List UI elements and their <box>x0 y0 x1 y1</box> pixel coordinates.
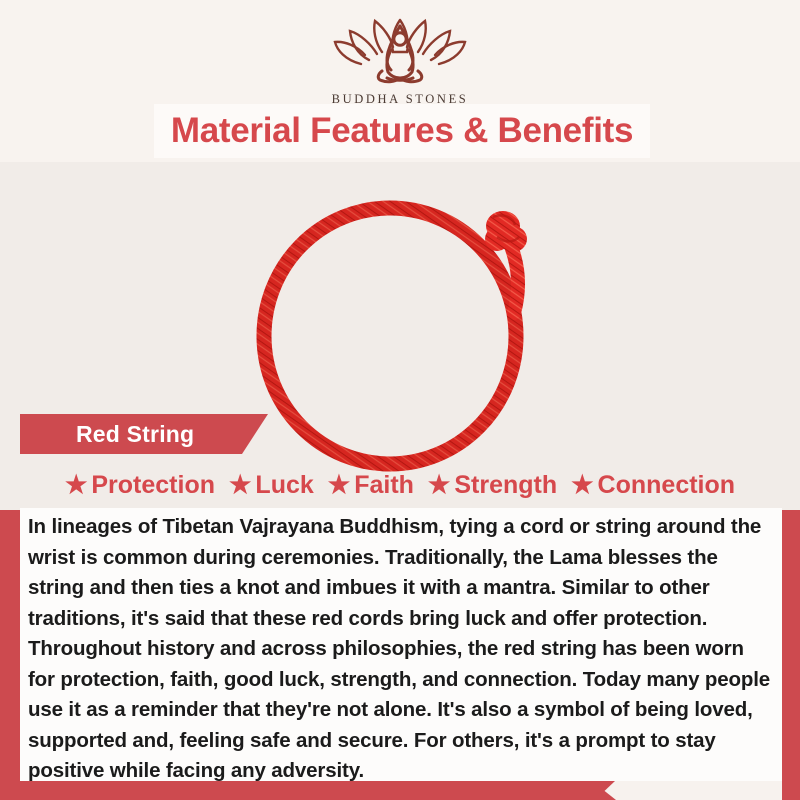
bracelet-image <box>0 162 800 510</box>
benefit-item: ★ Luck <box>222 471 321 500</box>
star-icon: ★ <box>65 473 87 498</box>
star-icon: ★ <box>428 473 450 498</box>
benefit-label: Strength <box>454 471 557 500</box>
star-icon: ★ <box>571 473 593 498</box>
brand-logo: BUDDHA STONES <box>0 14 800 107</box>
red-string-bracelet-icon <box>235 191 565 481</box>
title-plate: Material Features & Benefits <box>154 104 650 158</box>
benefit-label: Luck <box>255 471 313 500</box>
benefit-item: ★ Protection <box>58 471 222 500</box>
description-panel: In lineages of Tibetan Vajrayana Buddhis… <box>20 508 782 781</box>
description-text: In lineages of Tibetan Vajrayana Buddhis… <box>28 512 772 787</box>
product-image-panel <box>0 162 800 510</box>
benefit-label: Connection <box>598 471 736 500</box>
page-title: Material Features & Benefits <box>171 111 633 151</box>
poster-root: BUDDHA STONES Material Features & Benefi… <box>0 0 800 800</box>
benefit-label: Protection <box>91 471 215 500</box>
benefit-label: Faith <box>354 471 414 500</box>
benefit-item: ★ Connection <box>564 471 742 500</box>
star-icon: ★ <box>229 473 251 498</box>
star-icon: ★ <box>328 473 350 498</box>
benefit-item: ★ Faith <box>321 471 421 500</box>
benefit-item: ★ Strength <box>421 471 564 500</box>
lotus-meditation-icon <box>325 14 475 90</box>
product-ribbon: Red String <box>20 414 268 454</box>
benefits-row: ★ Protection ★ Luck ★ Faith ★ Strength ★… <box>24 466 776 504</box>
ribbon-label: Red String <box>20 421 194 448</box>
